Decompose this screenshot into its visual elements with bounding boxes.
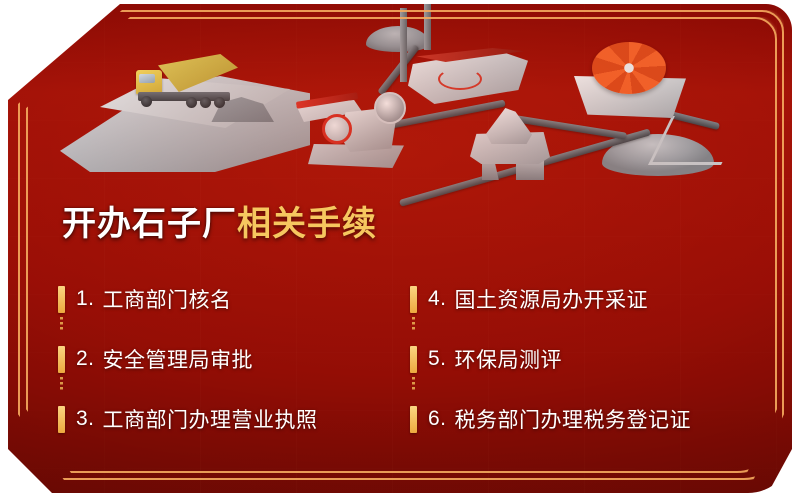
list-item[interactable]: 4. 国土资源局办开采证 [410, 269, 792, 329]
title-white-part: 开办石子厂 [62, 205, 237, 243]
list-item-label: 安全管理局审批 [95, 344, 254, 374]
list-item-label: 工商部门核名 [95, 284, 232, 314]
procedure-list: 1. 工商部门核名 4. 国土资源局办开采证 2. 安全管理局审批 [8, 269, 792, 449]
list-item-number: 6. [428, 407, 447, 431]
bullet-marker-icon [58, 406, 65, 433]
bullet-marker-icon [410, 346, 417, 373]
list-item[interactable]: 3. 工商部门办理营业执照 [58, 389, 410, 449]
list-item-label: 国土资源局办开采证 [447, 284, 649, 314]
bullet-marker-icon [410, 286, 417, 313]
list-item[interactable]: 2. 安全管理局审批 [58, 329, 410, 389]
bullet-marker-icon [58, 286, 65, 313]
title-gold-part: 相关手续 [237, 205, 377, 243]
bullet-marker-icon [410, 406, 417, 433]
list-item-number: 2. [76, 347, 95, 371]
banner-card: 开办石子厂相关手续 1. 工商部门核名 4. 国土资源局办开采证 [8, 4, 792, 493]
list-item-number: 4. [428, 287, 447, 311]
banner-stage: 开办石子厂相关手续 1. 工商部门核名 4. 国土资源局办开采证 [0, 0, 800, 500]
list-item[interactable]: 6. 税务部门办理税务登记证 [410, 389, 792, 449]
page-title: 开办石子厂相关手续 [8, 194, 792, 243]
list-item-label: 税务部门办理税务登记证 [447, 404, 692, 434]
list-item-number: 3. [76, 407, 95, 431]
list-item-label: 工商部门办理营业执照 [95, 404, 318, 434]
banner-content: 开办石子厂相关手续 1. 工商部门核名 4. 国土资源局办开采证 [8, 194, 792, 449]
list-item-number: 1. [76, 287, 95, 311]
list-item[interactable]: 5. 环保局测评 [410, 329, 792, 389]
bullet-marker-icon [58, 346, 65, 373]
list-item-label: 环保局测评 [447, 344, 563, 374]
list-item[interactable]: 1. 工商部门核名 [58, 269, 410, 329]
list-item-number: 5. [428, 347, 447, 371]
